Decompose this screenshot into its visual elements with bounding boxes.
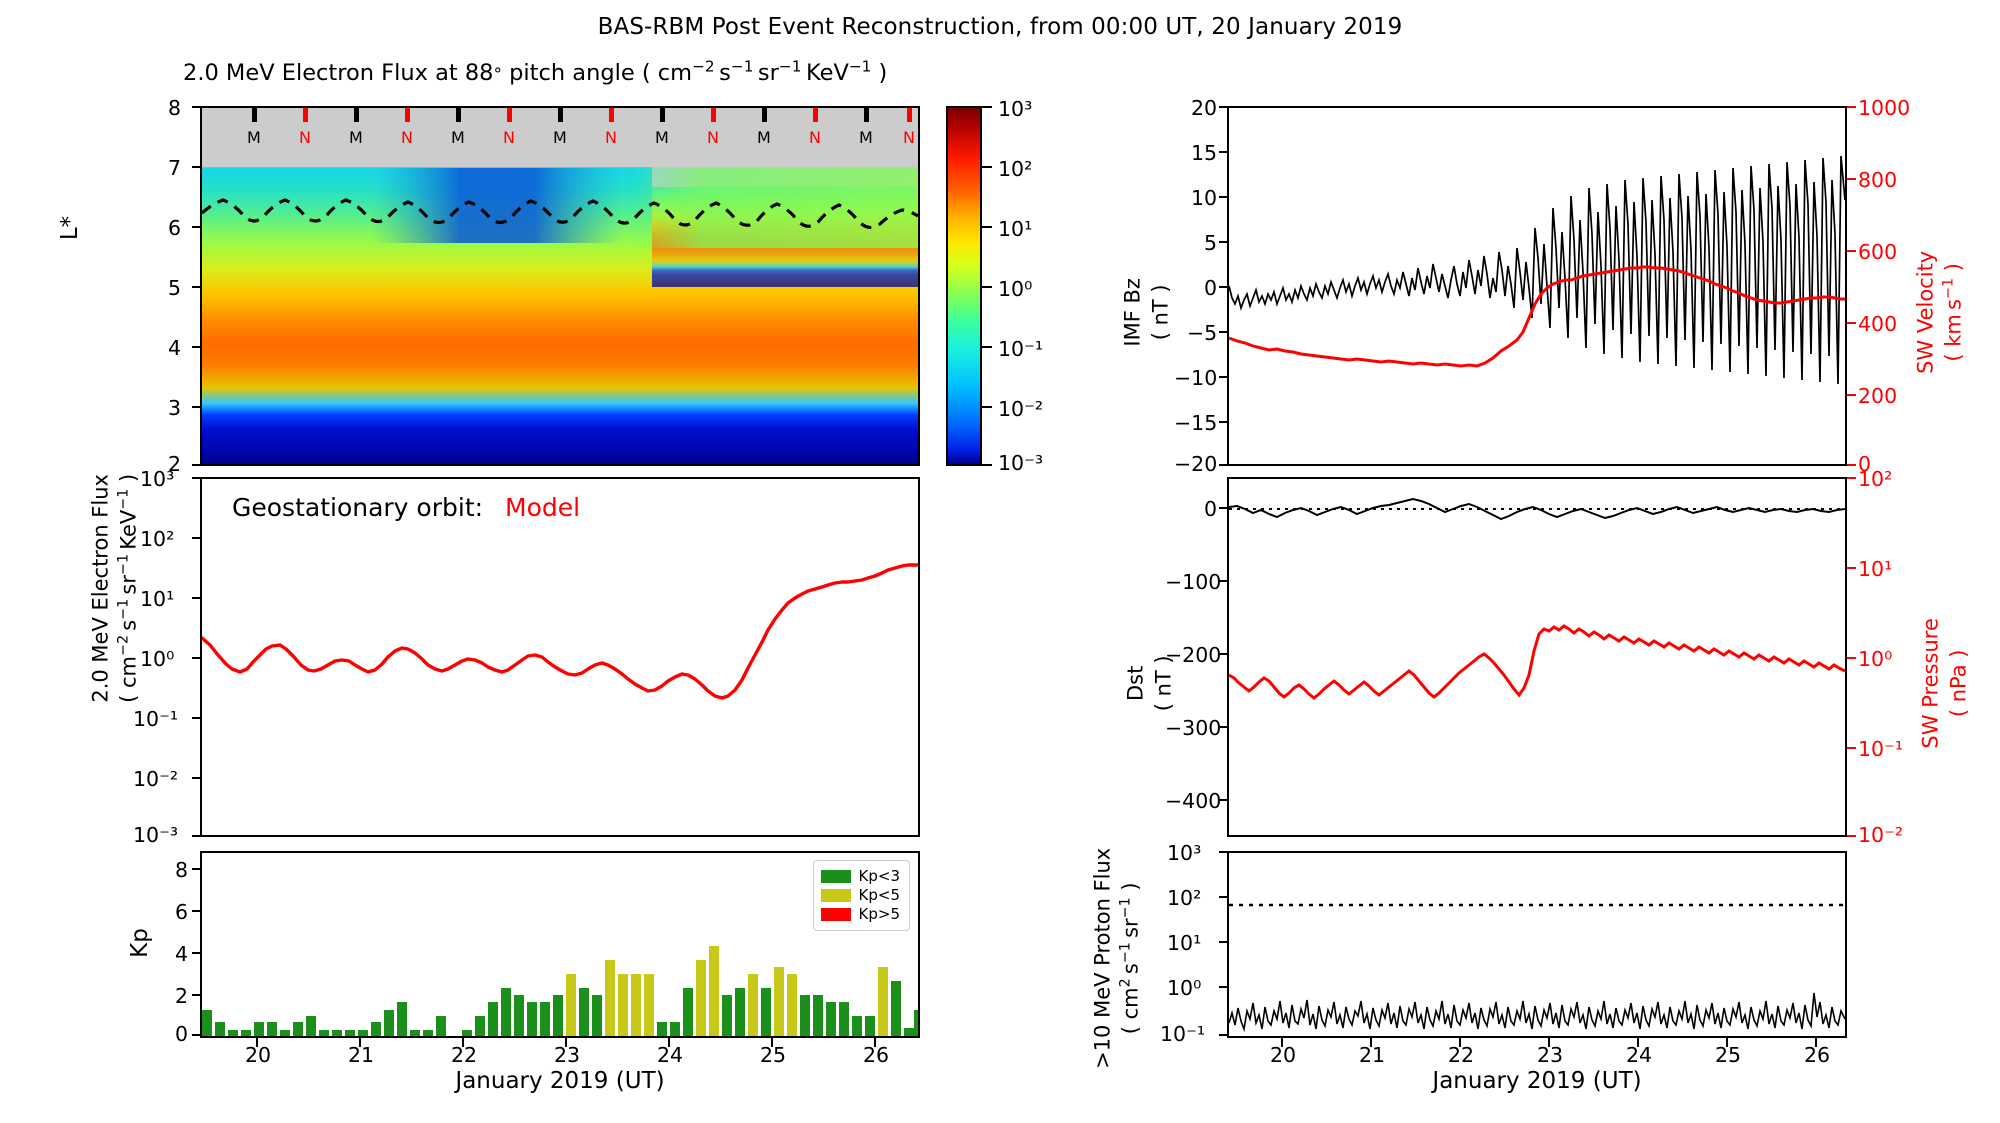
ytick-label: 0 <box>1204 276 1217 300</box>
xtick-label: 23 <box>554 1043 580 1067</box>
kp-ylabel: Kp <box>127 913 153 973</box>
ytick-label: 3 <box>168 396 181 420</box>
imf-ylabel-left-l1: IMF Bz <box>1119 212 1147 412</box>
orbit-marker-label: M <box>757 128 771 147</box>
imf-bz-line <box>1229 156 1845 384</box>
orbit-marker-label: N <box>605 128 617 147</box>
cbar-tick: 10² <box>998 157 1032 181</box>
figure-suptitle: BAS-RBM Post Event Reconstruction, from … <box>0 14 2000 40</box>
orbit-marker-label: N <box>503 128 515 147</box>
orbit-marker-label: N <box>903 128 915 147</box>
imf-axes <box>1227 106 1847 466</box>
dst-ylabel-right-l1: SW Pressure <box>1917 573 1945 793</box>
ytick-label: −10 <box>1174 366 1217 390</box>
legend-label: Kp<3 <box>859 869 900 884</box>
dst-ylabel-right-l2: ( nPa ) <box>1945 573 1973 793</box>
dst-series <box>1229 479 1845 835</box>
ytick-label: 10⁰ <box>1167 976 1201 1000</box>
kp-xlabel: January 2019 (UT) <box>200 1068 920 1094</box>
orbit-marker-label: M <box>247 128 261 147</box>
ytick-label: −200 <box>1165 643 1221 667</box>
ytick-label: −20 <box>1174 452 1217 476</box>
ytick-label: 7 <box>168 156 181 180</box>
ytick-label: 2 <box>175 984 188 1008</box>
proton-ylabel-l1: >10 MeV Proton Flux <box>1089 793 1117 1123</box>
orbit-marker-label: N <box>401 128 413 147</box>
proton-flux-line <box>1229 993 1845 1029</box>
kp-axes: Kp<3 Kp<5 Kp>5 <box>200 851 920 1038</box>
kp-legend: Kp<3 Kp<5 Kp>5 <box>813 860 910 931</box>
orbit-marker-label: M <box>349 128 363 147</box>
proton-series <box>1229 853 1845 1036</box>
imf-ylabel-right-l1: SW Velocity <box>1912 202 1940 422</box>
ytick-label: 10⁻³ <box>133 823 178 847</box>
ytick-label-right: 10⁰ <box>1858 647 1892 671</box>
kp-bars <box>202 853 918 1036</box>
orbit-marker-label: N <box>707 128 719 147</box>
ytick-label: 8 <box>175 858 188 882</box>
xtick-label: 22 <box>451 1043 477 1067</box>
legend-item: Kp>5 <box>821 905 900 924</box>
orbit-marker-label: N <box>809 128 821 147</box>
ytick-label: 10⁻¹ <box>1160 1022 1205 1046</box>
ytick-label-right: 10⁻¹ <box>1858 737 1903 761</box>
orbit-marker-label: M <box>859 128 873 147</box>
orbit-marker-label: M <box>655 128 669 147</box>
imf-ylabel-left-l2: ( nT ) <box>1147 212 1175 412</box>
cbar-tick: 10⁰ <box>998 277 1032 301</box>
ytick-label: 10 <box>1191 186 1217 210</box>
dst-ylabel-left-l1: Dst <box>1122 603 1150 763</box>
ytick-label: 0 <box>175 1022 188 1046</box>
xtick-label: 25 <box>1715 1043 1741 1067</box>
orbit-marker-label: M <box>451 128 465 147</box>
ytick-label-right: 10¹ <box>1858 557 1892 581</box>
ytick-label: 10¹ <box>140 587 174 611</box>
legend-item: Kp<5 <box>821 886 900 905</box>
geo-flux-ylabel: 2.0 MeV Electron Flux ( cm−2 s−1 sr−1 Ke… <box>87 423 144 753</box>
legend-swatch-kp-lt5 <box>821 889 851 902</box>
imf-ylabel-right: SW Velocity ( km s−1 ) <box>1912 202 1969 422</box>
proton-xlabel: January 2019 (UT) <box>1227 1068 1847 1094</box>
proton-ylabel-l2: ( cm2 s−1 sr−1 ) <box>1117 793 1145 1123</box>
imf-ylabel-left: IMF Bz ( nT ) <box>1119 212 1176 412</box>
dst-ylabel-right: SW Pressure ( nPa ) <box>1917 573 1974 793</box>
ytick-label: 10⁻² <box>133 767 178 791</box>
xtick-label: 24 <box>1626 1043 1652 1067</box>
xtick-label: 24 <box>657 1043 683 1067</box>
proton-ylabel: >10 MeV Proton Flux ( cm2 s−1 sr−1 ) <box>1089 793 1146 1123</box>
geo-flux-axes: Geostationary orbit: Model <box>200 477 920 837</box>
ytick-label-right: 10⁻² <box>1858 823 1903 847</box>
ytick-label: −400 <box>1165 789 1221 813</box>
ytick-label: 6 <box>175 900 188 924</box>
ytick-label: 10³ <box>140 467 174 491</box>
dst-axes <box>1227 477 1847 837</box>
ytick-label: 10² <box>1167 886 1201 910</box>
ytick-label: 0 <box>1204 497 1217 521</box>
xtick-label: 25 <box>760 1043 786 1067</box>
ytick-label: 15 <box>1191 141 1217 165</box>
ytick-label: 10³ <box>1167 841 1201 865</box>
cbar-tick: 10⁻¹ <box>998 337 1043 361</box>
ytick-label: −300 <box>1165 716 1221 740</box>
cbar-tick: 10⁻³ <box>998 451 1043 475</box>
geo-flux-annotation-prefix: Geostationary orbit: <box>232 493 483 522</box>
xtick-label: 20 <box>245 1043 271 1067</box>
geo-flux-line <box>202 479 918 835</box>
cbar-tick: 10³ <box>998 97 1032 121</box>
ytick-label-right: 200 <box>1858 384 1897 408</box>
xtick-label: 26 <box>863 1043 889 1067</box>
legend-swatch-kp-lt3 <box>821 870 851 883</box>
ytick-label: 6 <box>168 216 181 240</box>
ytick-label: 10² <box>140 527 174 551</box>
cbar-tick: 10¹ <box>998 217 1032 241</box>
ytick-label: 4 <box>175 942 188 966</box>
ytick-label-right: 800 <box>1858 168 1897 192</box>
ytick-label: 4 <box>168 336 181 360</box>
ytick-label: 8 <box>168 96 181 120</box>
orbit-marker-label: N <box>299 128 311 147</box>
ytick-label: −5 <box>1187 321 1217 345</box>
legend-item: Kp<3 <box>821 867 900 886</box>
xtick-label: 21 <box>348 1043 374 1067</box>
geo-flux-annotation: Geostationary orbit: Model <box>232 493 580 522</box>
ytick-label-right: 10² <box>1858 467 1892 491</box>
ytick-label: 10⁰ <box>140 647 174 671</box>
dst-line <box>1229 499 1845 519</box>
flux-map-title: 2.0 MeV Electron Flux at 88° pitch angle… <box>183 60 887 86</box>
sw-pressure-line <box>1229 626 1845 698</box>
sw-velocity-line <box>1229 267 1845 366</box>
flux-map-axes: M N M N M N M N M N M N M N <box>200 106 920 466</box>
ytick-label: −100 <box>1165 570 1221 594</box>
xtick-label: 23 <box>1537 1043 1563 1067</box>
kp-bar <box>202 981 918 1036</box>
orbit-marker-label: M <box>553 128 567 147</box>
ytick-label: 20 <box>1191 96 1217 120</box>
legend-label: Kp<5 <box>859 888 900 903</box>
proton-axes <box>1227 851 1847 1038</box>
geo-flux-ylabel-l1: 2.0 MeV Electron Flux <box>87 423 115 753</box>
geo-flux-annotation-model: Model <box>505 493 580 522</box>
ytick-label: 5 <box>1204 231 1217 255</box>
ytick-label-right: 1000 <box>1858 96 1910 120</box>
legend-swatch-kp-gt5 <box>821 908 851 921</box>
cbar-tick: 10⁻² <box>998 397 1043 421</box>
legend-label: Kp>5 <box>859 907 900 922</box>
ytick-label-right: 600 <box>1858 240 1897 264</box>
ytick-label-right: 400 <box>1858 312 1897 336</box>
ytick-label: 5 <box>168 276 181 300</box>
imf-ylabel-right-l2: ( km s−1 ) <box>1940 202 1968 422</box>
imf-series <box>1229 108 1845 464</box>
ytick-label: 10¹ <box>1167 931 1201 955</box>
ytick-label: 10⁻¹ <box>133 707 178 731</box>
xtick-label: 26 <box>1804 1043 1830 1067</box>
xtick-label: 22 <box>1448 1043 1474 1067</box>
ytick-label: −15 <box>1174 411 1217 435</box>
xtick-label: 21 <box>1359 1043 1385 1067</box>
flux-map-ylabel: L* <box>57 198 83 258</box>
flux-map-image <box>202 108 918 464</box>
xtick-label: 20 <box>1270 1043 1296 1067</box>
figure-canvas: BAS-RBM Post Event Reconstruction, from … <box>0 0 2000 1100</box>
